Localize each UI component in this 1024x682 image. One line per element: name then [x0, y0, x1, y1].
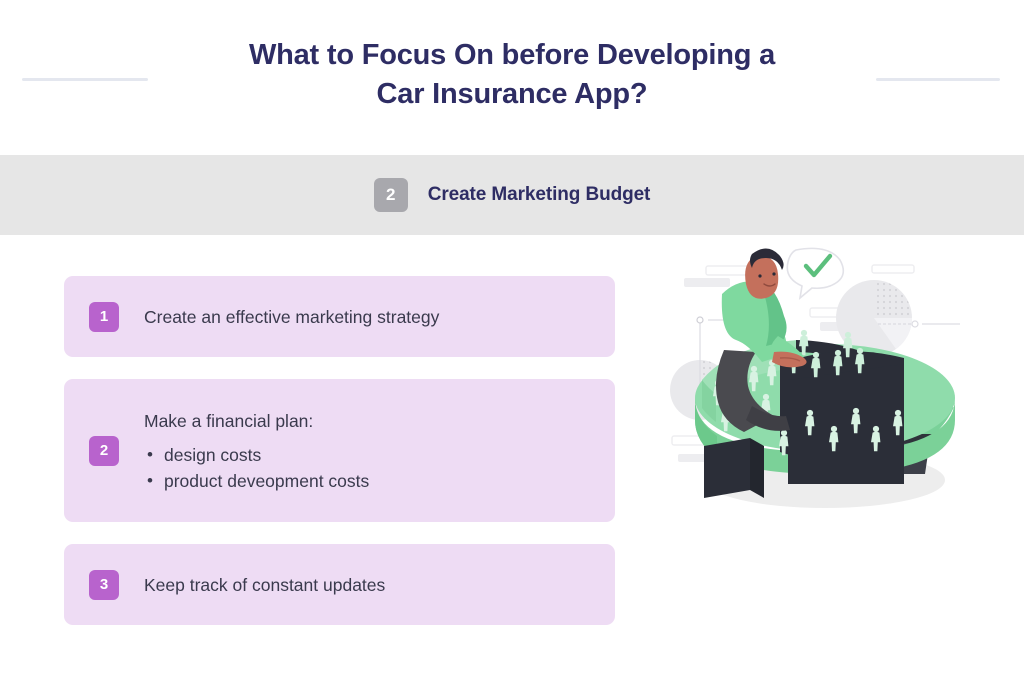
list-item-bullets: design costs product deveopment costs: [144, 442, 615, 494]
focus-points-list: 1 Create an effective marketing strategy…: [64, 276, 615, 647]
page-title-line-1: What to Focus On before Developing a: [249, 39, 775, 71]
list-item-number-badge: 2: [89, 436, 119, 466]
list-item: 3 Keep track of constant updates: [64, 544, 615, 625]
list-item-body: Keep track of constant updates: [144, 572, 615, 598]
list-item-body: Make a financial plan: design costs prod…: [144, 408, 615, 494]
list-item-heading: Create an effective marketing strategy: [144, 304, 615, 330]
decorative-rule-left: [22, 78, 148, 81]
bullet-item: product deveopment costs: [144, 468, 615, 494]
chart-block-small-dark: [704, 438, 764, 498]
list-item-number-badge: 3: [89, 570, 119, 600]
speech-bubble-check-icon: [787, 248, 843, 298]
list-item-body: Create an effective marketing strategy: [144, 304, 615, 330]
decorative-rule-right: [876, 78, 1000, 81]
marketing-budget-illustration: [660, 240, 990, 540]
section-number-badge: 2: [374, 178, 408, 212]
list-item-heading: Keep track of constant updates: [144, 572, 615, 598]
list-item-heading: Make a financial plan:: [144, 408, 615, 434]
background-pie-chart-right: [836, 280, 960, 356]
bullet-item: design costs: [144, 442, 615, 468]
section-header-band: 2 Create Marketing Budget: [0, 155, 1024, 235]
page-header: What to Focus On before Developing a Car…: [0, 0, 1024, 155]
page-title: What to Focus On before Developing a Car…: [162, 36, 862, 114]
list-item: 1 Create an effective marketing strategy: [64, 276, 615, 357]
section-heading: Create Marketing Budget: [428, 184, 651, 206]
list-item: 2 Make a financial plan: design costs pr…: [64, 379, 615, 522]
list-item-number-badge: 1: [89, 302, 119, 332]
page-title-line-2: Car Insurance App?: [377, 78, 648, 110]
